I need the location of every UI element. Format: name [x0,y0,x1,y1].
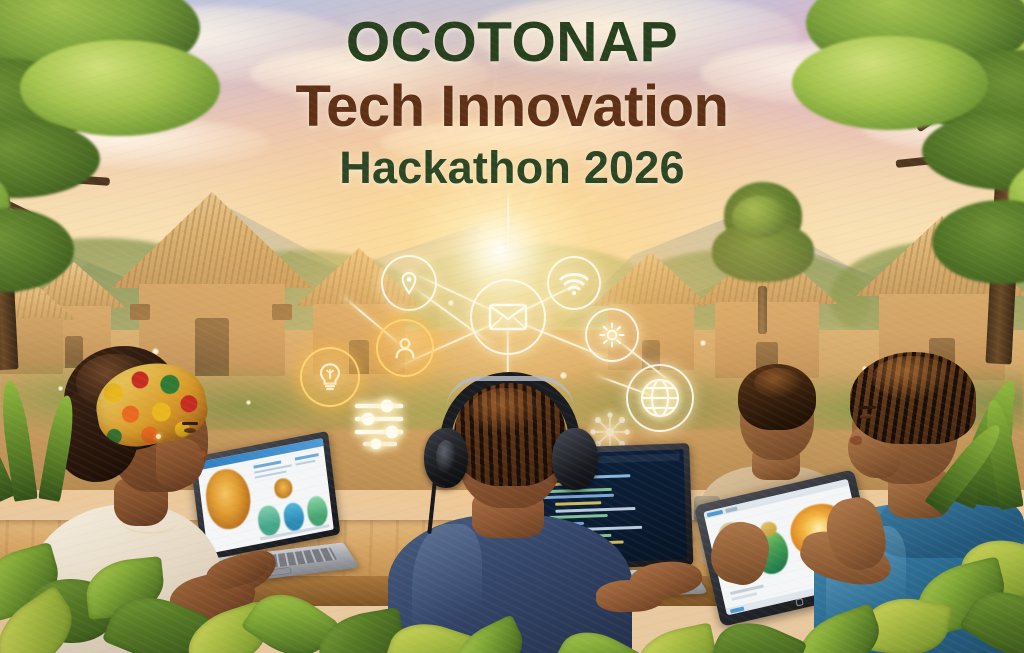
mail-glyph [488,302,528,332]
person-center [388,366,632,653]
right-eye [860,414,872,419]
wifi-glyph [559,271,589,295]
woman-eyebrow [182,422,198,425]
tree-canopy-highlight [732,196,788,238]
lightbulb-glyph [317,362,343,392]
hut-thatch-roof [592,252,710,306]
foreground-leaf [632,622,721,653]
right-lips [850,436,862,445]
tree-center-pine [706,182,818,334]
gear-icon[interactable] [585,308,639,362]
center-hand-left [595,579,664,613]
right-eyebrow [858,406,876,409]
holo-link [507,189,509,251]
gear-glyph [598,321,626,349]
location-pin-glyph [396,270,422,296]
headphones-headband-gloss [446,376,574,410]
chart-row [295,460,315,466]
user-glyph [392,335,418,361]
woman-necklace [122,508,178,534]
map-region-green [257,504,282,538]
title-line-2: Tech Innovation [0,78,1024,136]
woman-earring [156,434,161,439]
map-thumbnail [273,477,293,500]
map-region-blue [282,501,305,533]
poster-canvas: OCOTONAP Tech Innovation Hackathon 2026 [0,0,1024,653]
tree-trunk [758,286,767,334]
woman-eye [184,428,196,433]
headphones-earcup-right [552,428,598,490]
mail-icon[interactable] [470,279,546,355]
woman-lips [194,450,206,458]
map-region-green [306,494,329,528]
title-line-1: OCOTONAP [0,14,1024,71]
light-spark [448,300,454,306]
headphones-earcup-gloss [436,440,456,474]
right-hair-highlight [872,356,952,400]
globe-icon[interactable] [626,364,694,432]
title-line-3: Hackathon 2026 [0,145,1024,190]
wifi-icon[interactable] [547,256,601,310]
location-pin-icon[interactable] [381,255,437,311]
tree-canopy [0,208,74,292]
globe-glyph [639,377,681,419]
light-spark [700,340,706,346]
poster-title-block: OCOTONAP Tech Innovation Hackathon 2026 [0,14,1024,190]
tree-canopy [932,200,1024,284]
woman-jaw [156,438,204,488]
